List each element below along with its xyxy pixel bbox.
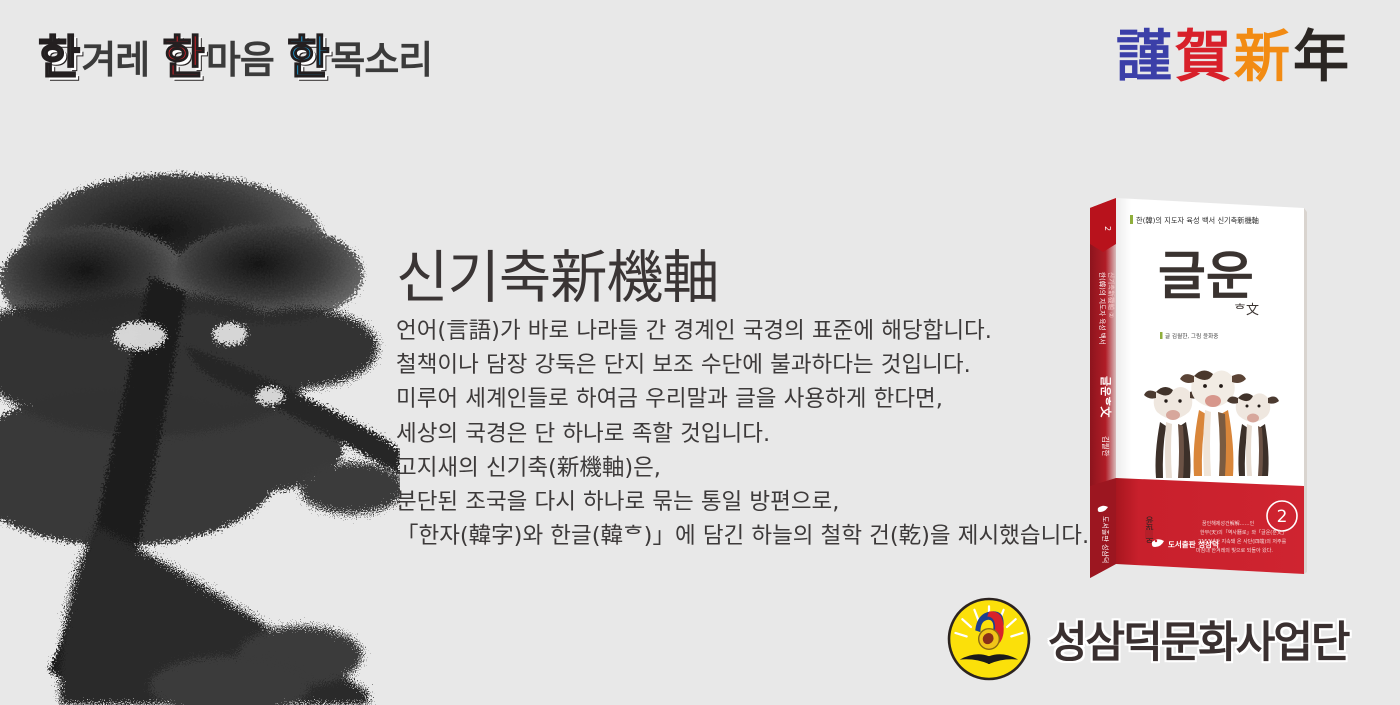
book-cover-title: 글운 <box>1158 246 1254 307</box>
slogan-emph-3: 한 <box>287 30 330 84</box>
sun-book-emblem <box>946 596 1032 682</box>
svg-text:신기축新機軸 ②: 신기축新機軸 ② <box>1107 272 1116 318</box>
svg-text:글운ᄒ文: 글운ᄒ文 <box>1099 376 1113 418</box>
book-volume-number: 2 <box>1277 507 1288 527</box>
new-year-char-3: 新 <box>1234 25 1293 90</box>
body-line: 언어(言語)가 바로 나라들 간 경계인 국경의 표준에 해당합니다. <box>396 314 1089 348</box>
body-line: 고지새의 신기축(新機軸)은, <box>396 451 1089 485</box>
slogan-rest-2: 마음 <box>206 38 274 82</box>
svg-text:도서출판 성삼덕: 도서출판 성삼덕 <box>1168 539 1219 549</box>
new-year-char-1: 謹 <box>1116 25 1175 90</box>
slogan-rest-1: 겨레 <box>81 38 149 82</box>
poster-page: 한겨레 한마음 한목소리 謹賀新年 <box>0 0 1400 705</box>
book-cover-image: 한(韓)의 지도자 육성 백서 신기축新機軸 글운 ᄒ文 글 김월한, 그림 윤… <box>1086 186 1308 586</box>
book-cover-header: 한(韓)의 지도자 육성 백서 신기축新機軸 <box>1136 216 1259 225</box>
body-paragraph: 언어(言語)가 바로 나라들 간 경계인 국경의 표준에 해당합니다. 철책이나… <box>396 314 1089 553</box>
svg-text:김월한: 김월한 <box>1101 436 1110 457</box>
body-line: 세상의 국경은 단 하나로 족할 것입니다. <box>396 417 1089 451</box>
svg-text:한(韓)의 지도자 육성 백서: 한(韓)의 지도자 육성 백서 <box>1098 272 1107 345</box>
svg-text:윤화중: 윤화중 <box>1143 516 1153 543</box>
svg-text:한부(天)의「역사曆로」와「글운(훈文」: 한부(天)의「역사曆로」와「글운(훈文」 <box>1200 529 1287 536</box>
pine-tree-illustration: 5 <box>0 96 400 705</box>
svg-text:도서출판 성삼덕: 도서출판 성삼덕 <box>1101 516 1110 563</box>
slogan-emph-1: 한 <box>38 30 81 84</box>
new-year-char-4: 年 <box>1293 25 1352 90</box>
body-line: 미루어 세계인들로 하여금 우리말과 글을 사용하게 한다면, <box>396 382 1089 416</box>
page-title: 신기축新機軸 <box>396 232 718 314</box>
slogan-rest-3: 목소리 <box>330 38 432 82</box>
slogan-emph-2: 한 <box>163 30 206 84</box>
book-cover-subtitle: ᄒ文 <box>1234 303 1259 318</box>
header-slogan: 한겨레 한마음 한목소리 <box>38 34 432 80</box>
new-year-char-2: 賀 <box>1175 25 1234 90</box>
artist-seal: 윤화중 <box>1143 516 1153 543</box>
body-line: 철책이나 담장 강둑은 단지 보조 수단에 불과하다는 것입니다. <box>396 348 1089 382</box>
body-line: 분단된 조국을 다시 하나로 묶는 통일 방편으로, <box>396 485 1089 519</box>
svg-text:2: 2 <box>1103 226 1112 231</box>
body-line: 「한자(韓字)와 한글(韓ᄒ)」에 담긴 하늘의 철학 건(乾)을 제시했습니다… <box>396 519 1089 553</box>
brand-name: 성삼덕문화사업단 <box>1048 608 1348 670</box>
brand-lockup: 성삼덕문화사업단 <box>946 596 1348 682</box>
new-year-greeting: 謹賀新年 <box>1116 30 1352 86</box>
book-cover-credit: 글 김월한, 그림 윤화중 <box>1165 332 1218 340</box>
svg-text:꿈인해제성건解解……인: 꿈인해제성건解解……인 <box>1202 520 1255 527</box>
